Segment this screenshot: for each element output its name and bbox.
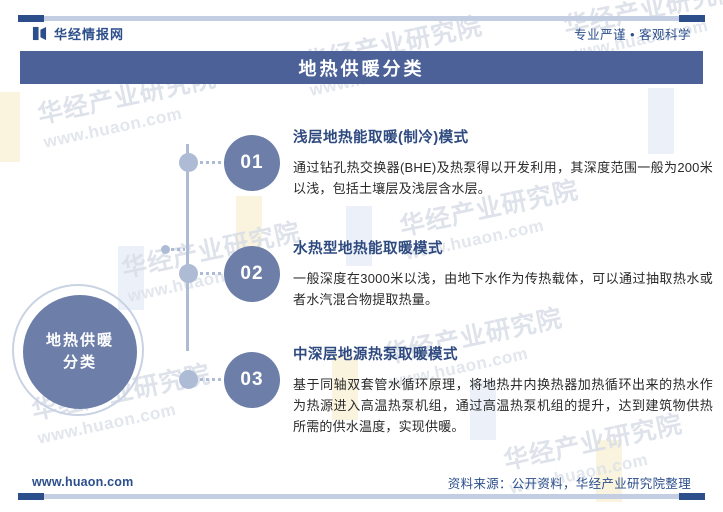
hub-circle: 地热供暖 分类 — [12, 284, 148, 420]
item-body: 基于同轴双套管水循环原理，将地热井内换热器加热循环出来的热水作为热源进入高温热泵… — [293, 374, 713, 437]
item-number-badge[interactable]: 02 — [224, 246, 280, 302]
item-number: 01 — [240, 152, 263, 174]
connector-dots-hub — [171, 248, 185, 251]
brand: 华经情报网 — [32, 24, 124, 43]
hub-label-line1: 地热供暖 — [46, 330, 114, 353]
connector-spine — [186, 144, 189, 351]
title-band: 地热供暖分类 — [20, 51, 703, 84]
hub-label-line2: 分类 — [63, 352, 97, 375]
item-body: 一般深度在3000米以浅，由地下水作为传热载体，可以通过抽取热水或者水汽混合物提… — [293, 268, 713, 310]
item-text-block: 浅层地热能取暖(制冷)模式 通过钻孔热交换器(BHE)及热泵得以开发利用，其深度… — [293, 129, 713, 199]
page-header: 华经情报网 专业严谨 • 客观科学 — [18, 21, 705, 45]
brand-name: 华经情报网 — [54, 24, 124, 43]
page-footer: www.huaon.com 资料来源：公开资料，华经产业研究院整理 — [18, 470, 705, 494]
bowtie-logo-icon — [32, 26, 47, 41]
header-tagline: 专业严谨 • 客观科学 — [574, 24, 691, 43]
footer-source: 资料来源：公开资料，华经产业研究院整理 — [448, 473, 691, 492]
page-title: 地热供暖分类 — [299, 55, 425, 81]
item-heading: 中深层地源热泵取暖模式 — [293, 346, 713, 365]
item-number: 02 — [240, 263, 263, 285]
item-number: 03 — [240, 369, 263, 391]
connector-dot-hub — [161, 245, 170, 254]
hub-label: 地热供暖 分类 — [23, 295, 137, 409]
infographic-page: 华经产业研究院 www.huaon.com 华经产业研究院 www.huaon.… — [0, 0, 723, 512]
item-text-block: 水热型地热能取暖模式 一般深度在3000米以浅，由地下水作为传热载体，可以通过抽… — [293, 240, 713, 310]
connector-node-large — [179, 153, 198, 172]
connector-node-large — [179, 264, 198, 283]
connector-node-large — [179, 370, 198, 389]
item-body: 通过钻孔热交换器(BHE)及热泵得以开发利用，其深度范围一般为200米以浅，包括… — [293, 157, 713, 199]
footer-url[interactable]: www.huaon.com — [32, 475, 133, 489]
bottom-rule — [18, 494, 705, 499]
item-number-badge[interactable]: 01 — [224, 135, 280, 191]
item-number-badge[interactable]: 03 — [224, 352, 280, 408]
item-heading: 水热型地热能取暖模式 — [293, 240, 713, 259]
item-heading: 浅层地热能取暖(制冷)模式 — [293, 129, 713, 148]
item-text-block: 中深层地源热泵取暖模式 基于同轴双套管水循环原理，将地热井内换热器加热循环出来的… — [293, 346, 713, 437]
content-area: 地热供暖 分类 01 浅层地热能取暖(制冷)模式 通过钻孔热交换器(BHE)及热… — [0, 84, 723, 466]
